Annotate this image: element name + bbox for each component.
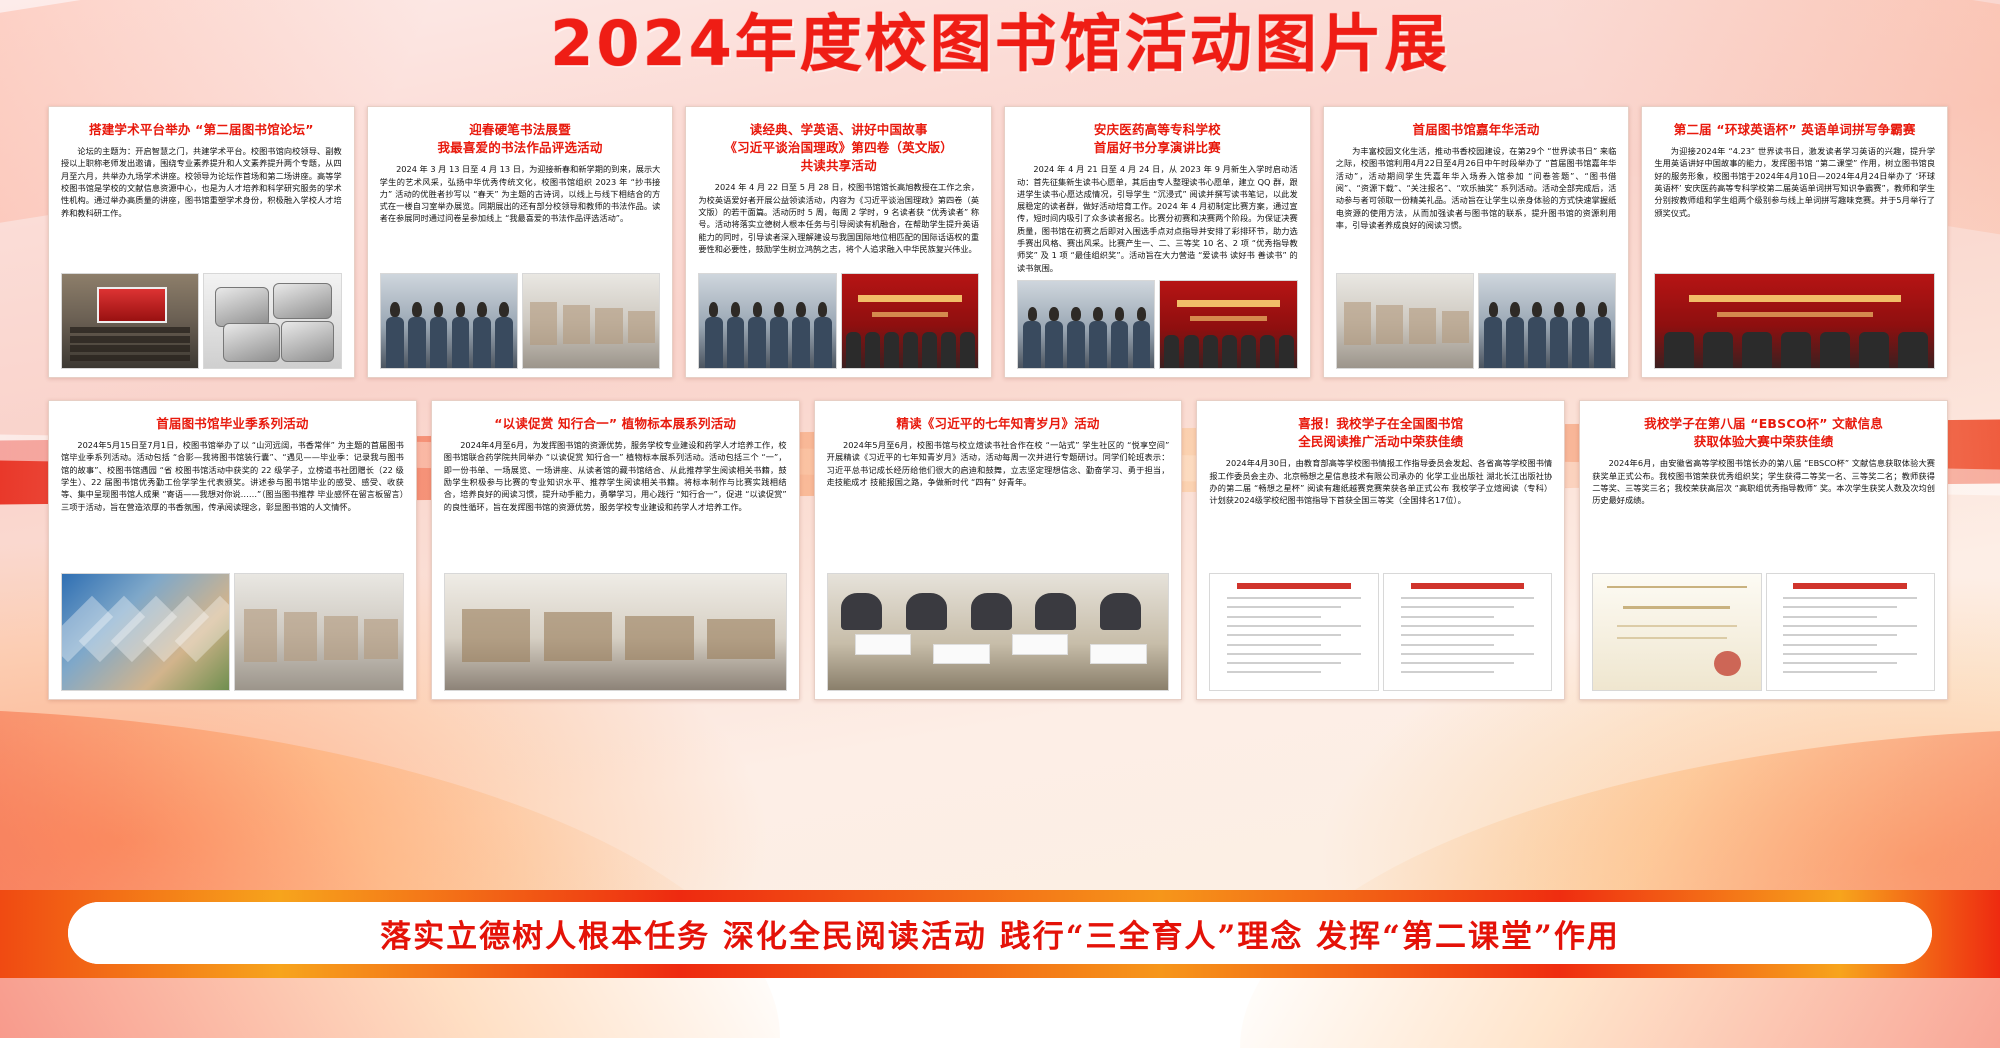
panel-title: 安庆医药高等专科学校 首届好书分享演讲比赛 bbox=[1017, 121, 1298, 157]
certificate-photo bbox=[1592, 573, 1761, 691]
reading-club-photo bbox=[827, 573, 1170, 691]
panel-photo-strip bbox=[380, 273, 661, 369]
panel-photo-strip bbox=[61, 273, 342, 369]
graduation-board-photo bbox=[234, 573, 403, 691]
carnival-students-photo bbox=[1478, 273, 1616, 369]
activity-panel[interactable]: 读经典、学英语、讲好中国故事 《习近平谈治国理政》第四卷（英文版） 共读共享活动… bbox=[685, 106, 992, 378]
panel-photo-strip bbox=[1592, 573, 1935, 691]
panel-body-text: 论坛的主题为：开启智慧之门，共建学术平台。校图书馆向校领导、副教授以上职称老师发… bbox=[61, 145, 342, 219]
panel-photo-strip bbox=[827, 573, 1170, 691]
panel-photo-strip bbox=[1209, 573, 1552, 691]
english-reading-group-photo bbox=[698, 273, 836, 369]
decor-swoosh-bottom-left bbox=[0, 708, 780, 1038]
activity-panel[interactable]: 首届图书馆毕业季系列活动2024年5月15日至7月1日，校图书馆举办了以 “山河… bbox=[48, 400, 417, 700]
panel-title: 喜报！我校学子在全国图书馆 全民阅读推广活动中荣获佳绩 bbox=[1209, 415, 1552, 451]
carnival-booth-photo bbox=[1336, 273, 1474, 369]
panel-row-bottom: 首届图书馆毕业季系列活动2024年5月15日至7月1日，校图书馆举办了以 “山河… bbox=[48, 400, 1948, 700]
graduation-collage-photo bbox=[61, 573, 230, 691]
classroom-lecture-photo bbox=[841, 273, 979, 369]
poster-document-photo bbox=[1383, 573, 1552, 691]
footer-pill: 落实立德树人根本任务 深化全民阅读活动 践行“三全育人”理念 发挥“第二课堂”作… bbox=[68, 902, 1932, 964]
panel-title: 第二届 “环球英语杯” 英语单词拼写争霸赛 bbox=[1654, 121, 1935, 139]
panel-title: 迎春硬笔书法展暨 我最喜爱的书法作品评选活动 bbox=[380, 121, 661, 157]
panel-body-text: 2024年5月至6月，校图书馆与校立煊读书社合作在校 “一站式” 学生社区的 “… bbox=[827, 439, 1170, 488]
panel-title: 读经典、学英语、讲好中国故事 《习近平谈治国理政》第四卷（英文版） 共读共享活动 bbox=[698, 121, 979, 175]
decor-swoosh-bottom-right bbox=[1240, 728, 2000, 1048]
panel-body-text: 为丰富校园文化生活，推动书香校园建设，在第29个 “世界读书日” 来临之际，校图… bbox=[1336, 145, 1617, 231]
panel-body-text: 2024年4月30日，由教育部高等学校图书情报工作指导委员会发起、各省高等学校图… bbox=[1209, 457, 1552, 506]
contest-stage-photo bbox=[1159, 280, 1297, 369]
activity-panel[interactable]: 搭建学术平台举办 “第二届图书馆论坛”论坛的主题为：开启智慧之门，共建学术平台。… bbox=[48, 106, 355, 378]
panel-body-text: 2024 年 4 月 22 日至 5 月 28 日，校图书馆馆长高旭教授在工作之… bbox=[698, 181, 979, 255]
panel-photo-strip bbox=[698, 273, 979, 369]
panel-title: 首届图书馆嘉年华活动 bbox=[1336, 121, 1617, 139]
activity-panel[interactable]: 第二届 “环球英语杯” 英语单词拼写争霸赛为迎接2024年 “4.23” 世界读… bbox=[1641, 106, 1948, 378]
panel-body-text: 2024年6月，由安徽省高等学校图书馆长办的第八届 “EBSCO杯” 文献信息获… bbox=[1592, 457, 1935, 506]
activity-panel[interactable]: 首届图书馆嘉年华活动为丰富校园文化生活，推动书香校园建设，在第29个 “世界读书… bbox=[1323, 106, 1630, 378]
panel-body-text: 为迎接2024年 “4.23” 世界读书日，激发读者学习英语的兴趣，提升学生用英… bbox=[1654, 145, 1935, 219]
activity-panel[interactable]: 精读《习近平的七年知青岁月》活动2024年5月至6月，校图书馆与校立煊读书社合作… bbox=[814, 400, 1183, 700]
page-title: 2024年度校图书馆活动图片展 bbox=[0, 8, 2000, 79]
panel-row-top: 搭建学术平台举办 “第二届图书馆论坛”论坛的主题为：开启智慧之门，共建学术平台。… bbox=[48, 106, 1948, 378]
notice-document-photo bbox=[1209, 573, 1378, 691]
panel-photo-strip bbox=[61, 573, 404, 691]
panel-body-text: 2024年4月至6月，为发挥图书馆的资源优势，服务学校专业建设和药学人才培养工作… bbox=[444, 439, 787, 513]
award-ceremony-group-photo bbox=[1654, 273, 1935, 369]
panel-photo-strip bbox=[1336, 273, 1617, 369]
award-ceremony-photo bbox=[380, 273, 518, 369]
library-reading-room-photo bbox=[444, 573, 787, 691]
calligraphy-display-photo bbox=[522, 273, 660, 369]
panel-body-text: 2024年5月15日至7月1日，校图书馆举办了以 “山河远阔，书香常伴” 为主题… bbox=[61, 439, 404, 513]
activity-panel[interactable]: 迎春硬笔书法展暨 我最喜爱的书法作品评选活动2024 年 3 月 13 日至 4… bbox=[367, 106, 674, 378]
activity-panel[interactable]: “以读促赏 知行合一” 植物标本展系列活动2024年4月至6月，为发挥图书馆的资… bbox=[431, 400, 800, 700]
speech-contest-photo bbox=[1017, 280, 1155, 369]
panel-title: 精读《习近平的七年知青岁月》活动 bbox=[827, 415, 1170, 433]
panel-body-text: 2024 年 3 月 13 日至 4 月 13 日，为迎接新春和新学期的到来，展… bbox=[380, 163, 661, 224]
footer-banner: 落实立德树人根本任务 深化全民阅读活动 践行“三全育人”理念 发挥“第二课堂”作… bbox=[0, 890, 2000, 978]
panel-photo-strip bbox=[444, 573, 787, 691]
lecture-hall-photo bbox=[61, 273, 199, 369]
panel-title: 搭建学术平台举办 “第二届图书馆论坛” bbox=[61, 121, 342, 139]
activity-panel[interactable]: 我校学子在第八届 “EBSCO杯” 文献信息 获取体验大赛中荣获佳绩2024年6… bbox=[1579, 400, 1948, 700]
panel-photo-strip bbox=[1017, 280, 1298, 369]
panel-photo-strip bbox=[1654, 273, 1935, 369]
equipment-photo bbox=[203, 273, 341, 369]
title-area: 2024年度校图书馆活动图片展 bbox=[0, 8, 2000, 79]
footer-slogan: 落实立德树人根本任务 深化全民阅读活动 践行“三全育人”理念 发挥“第二课堂”作… bbox=[380, 911, 1620, 956]
panel-title: 首届图书馆毕业季系列活动 bbox=[61, 415, 404, 433]
activity-panel[interactable]: 安庆医药高等专科学校 首届好书分享演讲比赛2024 年 4 月 21 日至 4 … bbox=[1004, 106, 1311, 378]
panel-body-text: 2024 年 4 月 21 日至 4 月 24 日，从 2023 年 9 月新生… bbox=[1017, 163, 1298, 274]
results-list-photo bbox=[1766, 573, 1935, 691]
activity-panel[interactable]: 喜报！我校学子在全国图书馆 全民阅读推广活动中荣获佳绩2024年4月30日，由教… bbox=[1196, 400, 1565, 700]
panel-title: 我校学子在第八届 “EBSCO杯” 文献信息 获取体验大赛中荣获佳绩 bbox=[1592, 415, 1935, 451]
exhibition-board: 2024年度校图书馆活动图片展 搭建学术平台举办 “第二届图书馆论坛”论坛的主题… bbox=[0, 0, 2000, 978]
panel-title: “以读促赏 知行合一” 植物标本展系列活动 bbox=[444, 415, 787, 433]
